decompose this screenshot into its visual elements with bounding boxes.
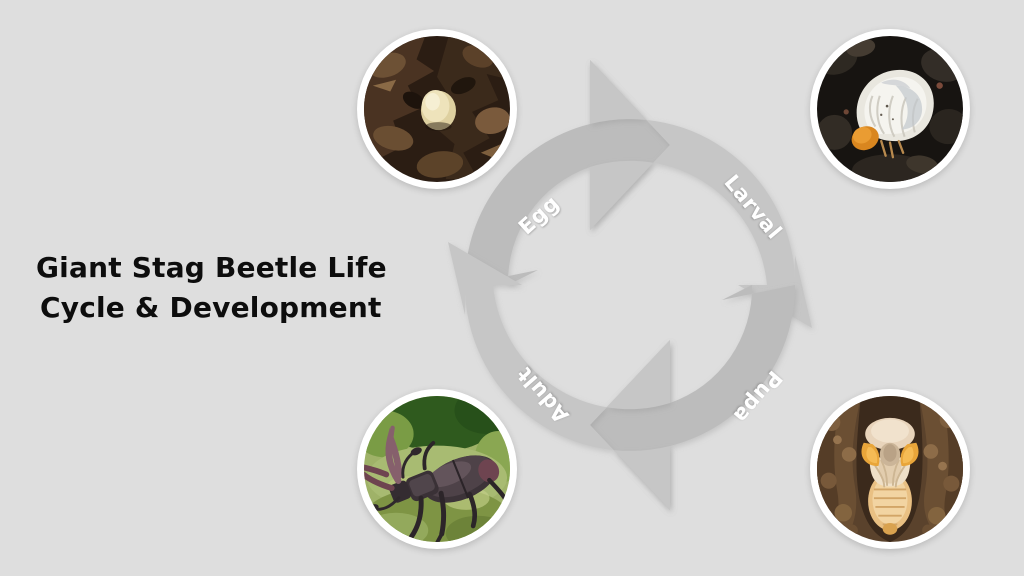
pupa-photo-inner (817, 396, 963, 542)
title-line-1: Giant Stag Beetle Life (36, 248, 416, 288)
adult-photo-inner (364, 396, 510, 542)
egg-photo (357, 29, 517, 189)
larva-photo (810, 29, 970, 189)
pupa-photo (810, 389, 970, 549)
slide-canvas: Giant Stag Beetle Life Cycle & Developme… (0, 0, 1024, 576)
page-title: Giant Stag Beetle Life Cycle & Developme… (36, 248, 416, 328)
adult-photo-art (364, 396, 510, 542)
larva-photo-art (817, 36, 963, 182)
larva-photo-inner (817, 36, 963, 182)
pupa-photo-art (817, 396, 963, 542)
egg-photo-art (364, 36, 510, 182)
arrow-larval (590, 60, 812, 328)
adult-beetle-photo (357, 389, 517, 549)
egg-photo-inner (364, 36, 510, 182)
title-line-2: Cycle & Development (36, 288, 416, 328)
